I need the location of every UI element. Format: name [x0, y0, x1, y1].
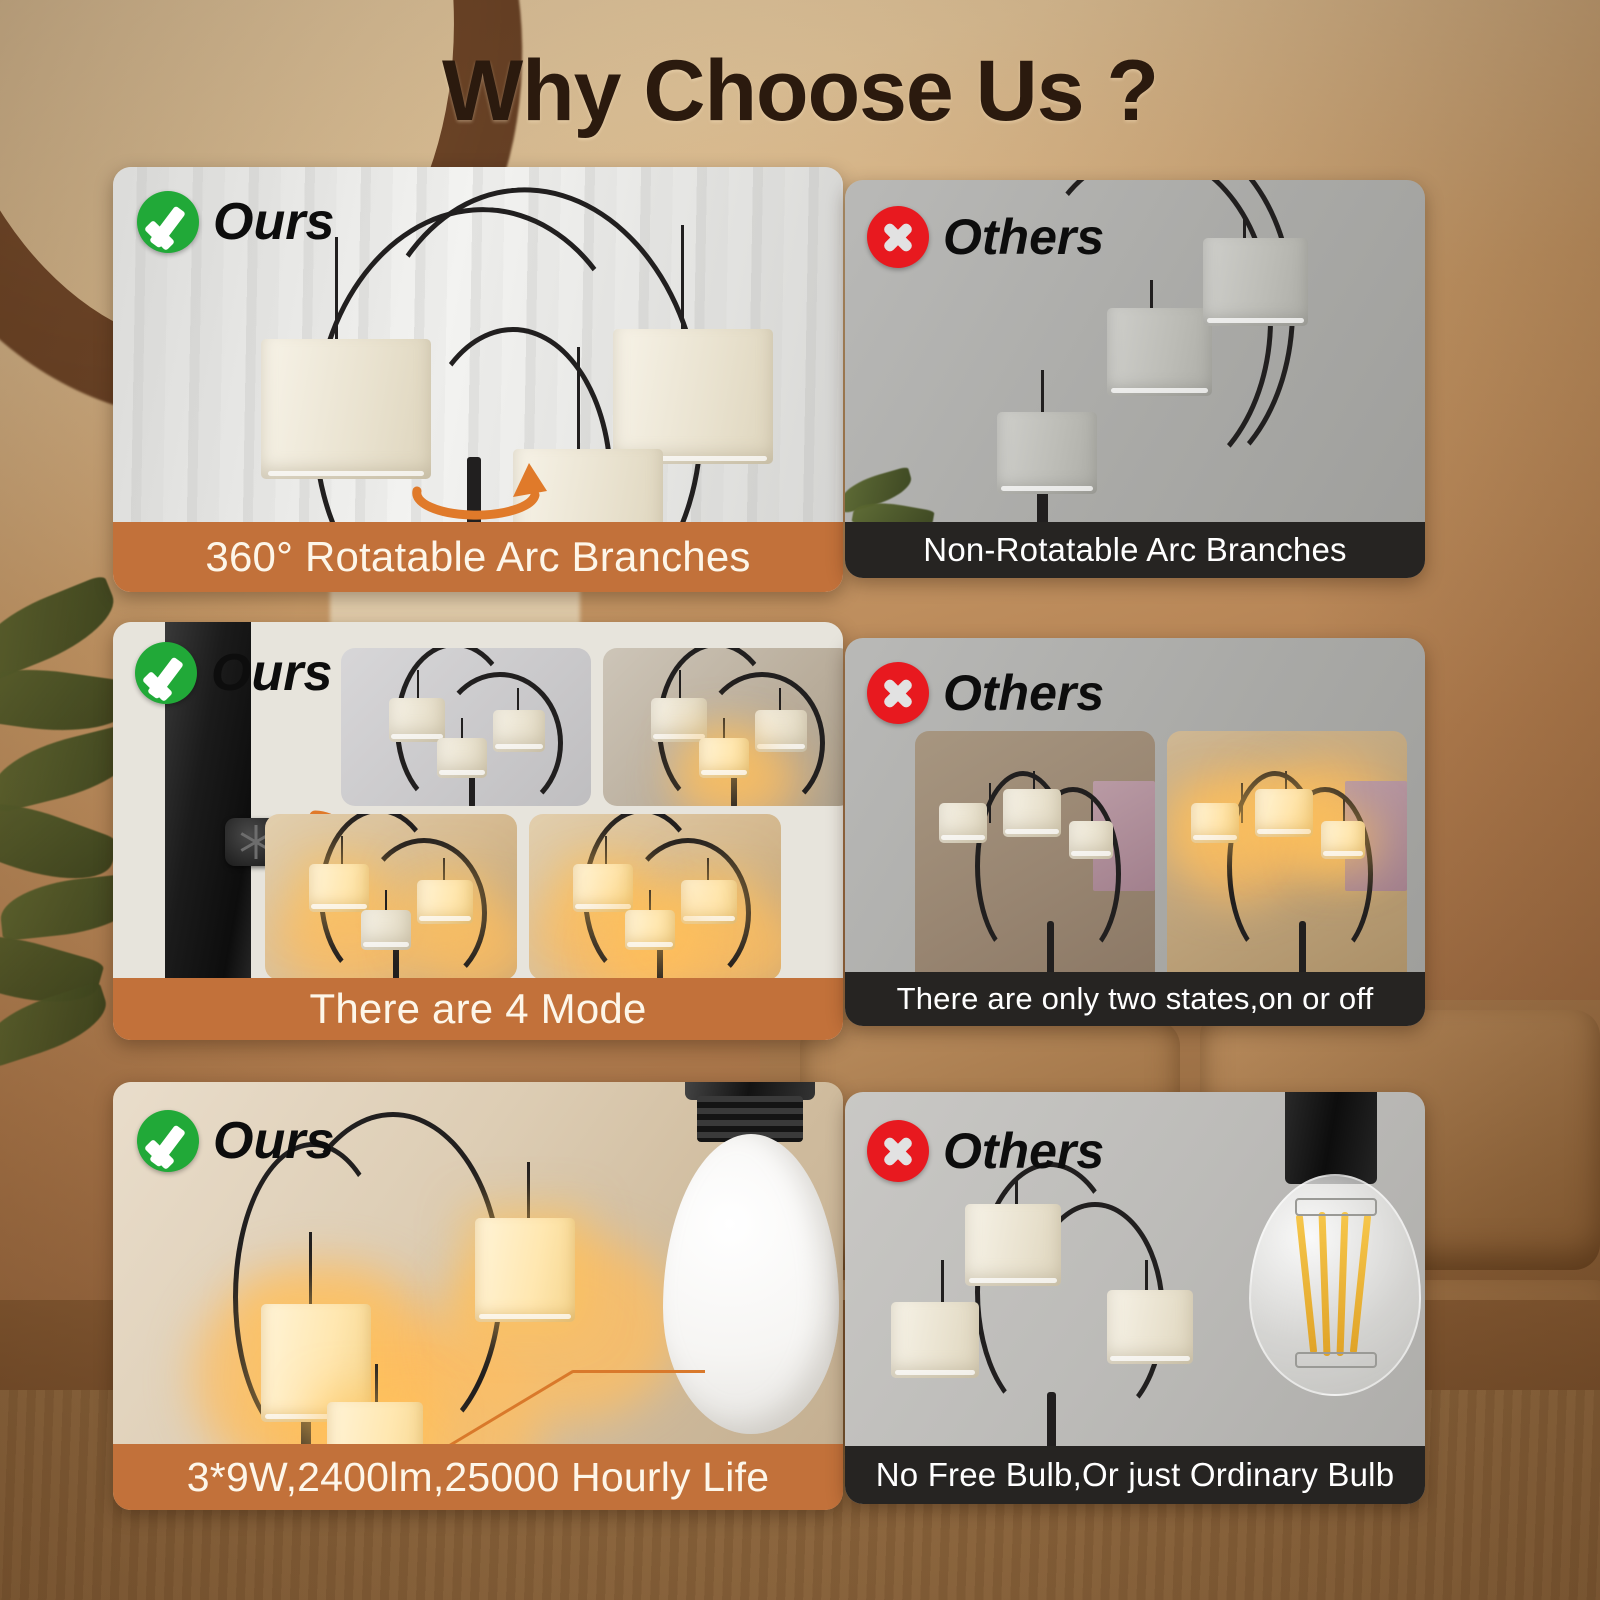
card-others-nonrotatable: Others Non-Rotatable Arc Branches	[845, 180, 1425, 578]
badge-label: Ours	[213, 1115, 334, 1167]
caption-text: Non-Rotatable Arc Branches	[923, 531, 1346, 569]
cross-circle-icon	[867, 206, 929, 268]
badge-label: Ours	[211, 647, 332, 699]
mode-thumb-three-lit	[529, 814, 781, 980]
caption-text: 360° Rotatable Arc Branches	[205, 533, 750, 581]
badge-ours: Ours	[135, 642, 332, 704]
caption-ours-four-mode: There are 4 Mode	[113, 978, 843, 1040]
caption-text: There are only two states,on or off	[897, 981, 1374, 1017]
mode-thumb-one-lit	[603, 648, 843, 806]
filament-bulb	[1233, 1092, 1425, 1436]
badge-others: Others	[867, 1120, 1104, 1182]
caption-text: 3*9W,2400lm,25000 Hourly Life	[187, 1454, 769, 1501]
caption-others-two-states: There are only two states,on or off	[845, 972, 1425, 1026]
check-circle-icon	[135, 642, 197, 704]
page-title: Why Choose Us ?	[442, 43, 1158, 139]
card-ours-rotatable: Ours 360° Rotatable Arc Branches	[113, 167, 843, 592]
badge-others: Others	[867, 662, 1104, 724]
card-ours-four-mode: Ours There are 4 Mode	[113, 622, 843, 1040]
caption-others-nonrotatable: Non-Rotatable Arc Branches	[845, 522, 1425, 578]
badge-label: Ours	[213, 196, 334, 248]
cross-circle-icon	[867, 662, 929, 724]
caption-text: No Free Bulb,Or just Ordinary Bulb	[876, 1456, 1395, 1494]
led-bulb	[625, 1082, 843, 1488]
state-thumb-off	[915, 731, 1155, 996]
card-ours-bulb-spec: Ours 3*9W,2400lm,25000 Hourly Life	[113, 1082, 843, 1510]
cross-circle-icon	[867, 1120, 929, 1182]
state-thumb-on	[1167, 731, 1407, 996]
badge-others: Others	[867, 206, 1104, 268]
check-circle-icon	[137, 1110, 199, 1172]
card-others-ordinary-bulb: Others No Free Bulb,Or just Ordinary Bul…	[845, 1092, 1425, 1504]
card-others-two-states: Others There are only two states,on or o…	[845, 638, 1425, 1026]
mode-thumb-two-lit	[265, 814, 517, 980]
caption-others-ordinary-bulb: No Free Bulb,Or just Ordinary Bulb	[845, 1446, 1425, 1504]
badge-ours: Ours	[137, 1110, 334, 1172]
check-circle-icon	[137, 191, 199, 253]
badge-ours: Ours	[137, 191, 334, 253]
callout-line-horizontal	[573, 1370, 705, 1373]
badge-label: Others	[943, 1126, 1104, 1176]
mode-thumb-all-off	[341, 648, 591, 806]
caption-ours-bulb-spec: 3*9W,2400lm,25000 Hourly Life	[113, 1444, 843, 1510]
badge-label: Others	[943, 212, 1104, 262]
badge-label: Others	[943, 668, 1104, 718]
caption-text: There are 4 Mode	[309, 985, 646, 1033]
rotation-arrow-icon	[401, 457, 551, 535]
